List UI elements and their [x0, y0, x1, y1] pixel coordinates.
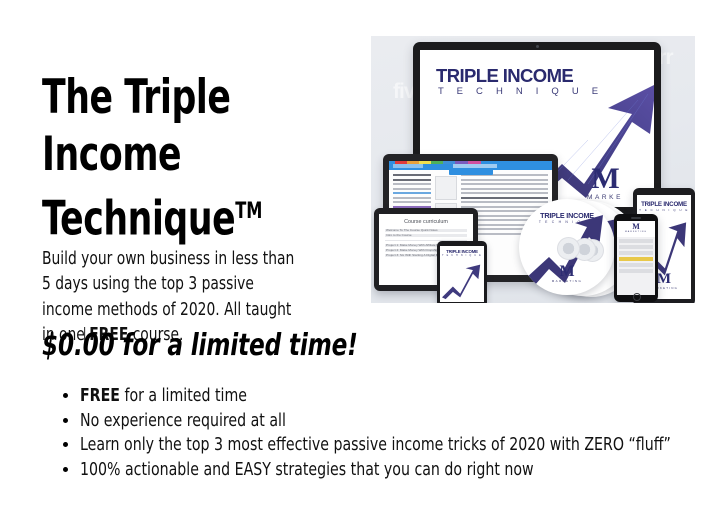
dvd-center-hole [557, 237, 580, 260]
list-item: Learn only the top 3 most effective pass… [58, 433, 698, 458]
product-mockup-image: fiverr fiverr fiverr fiverr fiverr fiver… [371, 36, 695, 303]
curriculum-row: Intro to the Course [385, 234, 467, 237]
list-item-text: Learn only the top 3 most effective pass… [80, 433, 697, 458]
cover-title: TRIPLE INCOME [637, 201, 691, 208]
list-item-text: No experience required at all [80, 409, 697, 434]
logo-wordmark: MARKETING [519, 279, 615, 283]
curriculum-row-text: Welcome To The Course Quick Notes [386, 228, 438, 232]
list-item: FREE for a limited time [58, 384, 698, 409]
list-item: 100% actionable and EASY strategies that… [58, 458, 698, 483]
logo-mark: M [617, 223, 655, 231]
logo-wordmark: MARKETING [617, 231, 655, 233]
phone-tall-mockup: M MARKETING [614, 214, 658, 302]
headline-line-3: Technique [42, 192, 235, 247]
brand-logo: M MARKETING [519, 264, 615, 283]
cover-subtitle: T E C H N I Q U E [440, 254, 484, 257]
list-item-text: FREE for a limited time [80, 384, 697, 409]
list-item-bold: FREE [80, 386, 120, 406]
bullet-dot-icon [63, 393, 68, 398]
headline-line-1: The Triple [42, 70, 230, 125]
bullet-dot-icon [63, 467, 68, 472]
phone-small-screen: TRIPLE INCOME T E C H N I Q U E [440, 246, 484, 302]
primary-action-button[interactable] [449, 169, 493, 175]
list-item-rest: 100% actionable and EASY strategies that… [80, 460, 534, 480]
price-headline: $0.00 for a limited time! [42, 328, 358, 364]
color-palette-strip [395, 161, 481, 164]
list-item-text: 100% actionable and EASY strategies that… [80, 458, 697, 483]
phone-app-header: M MARKETING [617, 221, 655, 237]
curriculum-row-text: Intro to the Course [386, 233, 412, 237]
cover-subtitle: T E C H N I Q U E [637, 208, 691, 212]
phone-list [617, 237, 655, 277]
headline-line-2: Income [42, 127, 181, 182]
phone-tall-screen: M MARKETING [617, 221, 655, 295]
page-title: The TripleIncomeTechniqueTM [42, 69, 304, 248]
curriculum-title: Course curriculum [385, 219, 467, 225]
list-item-rest: No experience required at all [80, 411, 286, 431]
curriculum-row-text: Project 2: Make Money With Dropshipping [386, 248, 444, 252]
list-item-rest: Learn only the top 3 most effective pass… [80, 435, 671, 455]
landing-page: The TripleIncomeTechniqueTM Build your o… [0, 0, 728, 532]
course-document [389, 170, 552, 178]
dvd-stack: TRIPLE INCOME T E C H N I Q U E M MARKET… [519, 196, 629, 301]
bullet-dot-icon [63, 442, 68, 447]
list-item: No experience required at all [58, 409, 698, 434]
upward-arrow-icon [442, 262, 482, 300]
trademark-symbol: TM [235, 199, 262, 224]
curriculum-row: Welcome To The Course Quick Notes [385, 229, 467, 232]
benefits-list: FREE for a limited time No experience re… [58, 384, 698, 482]
logo-mark: M [576, 164, 634, 194]
phone-small-mockup: TRIPLE INCOME T E C H N I Q U E [437, 241, 487, 303]
bullet-dot-icon [63, 418, 68, 423]
logo-mark: M [519, 264, 615, 279]
list-item-rest: for a limited time [120, 386, 247, 406]
